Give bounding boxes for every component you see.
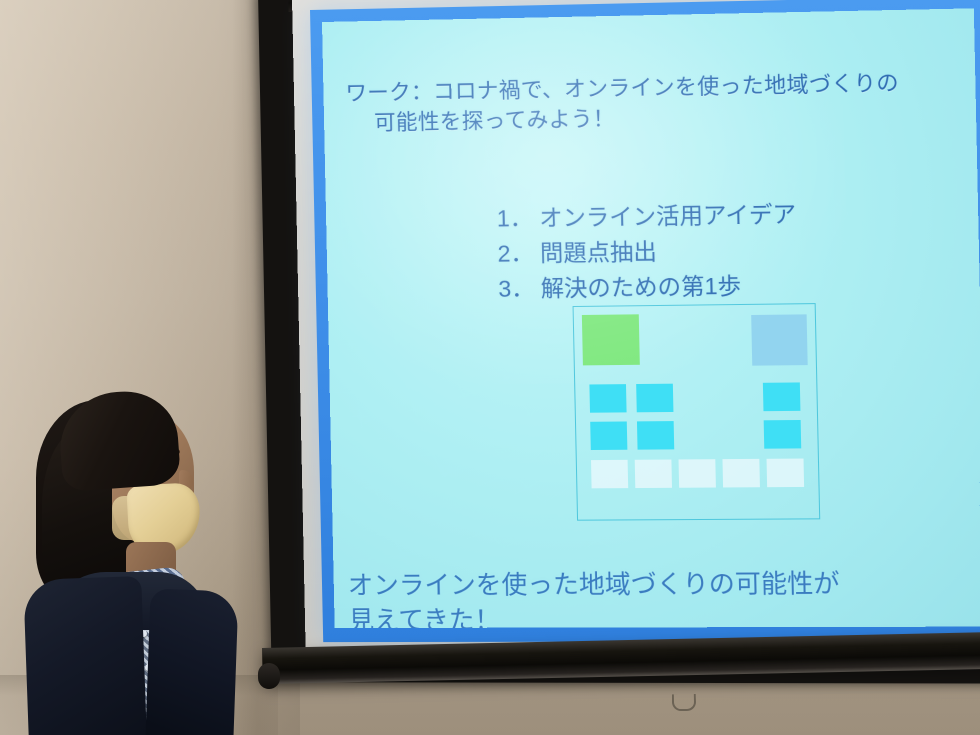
screen-pull-hook-icon bbox=[672, 694, 696, 711]
diagram-cell-cyan bbox=[763, 382, 801, 411]
diagram-cell-pale bbox=[635, 460, 672, 489]
slide-conclusion: オンラインを使った地域づくりの可能性が 見えてきた！ bbox=[347, 531, 980, 628]
slide-conclusion-line1: オンラインを使った地域づくりの可能性が bbox=[348, 570, 840, 600]
slide-conclusion-line2: 見えてきた！ bbox=[348, 603, 980, 629]
list-item-label: 問題点抽出 bbox=[540, 238, 657, 266]
diagram-cell-pale bbox=[722, 459, 759, 488]
diagram-cell-cyan bbox=[589, 384, 626, 413]
slide-title: ワーク：コロナ禍で、オンラインを使った地域づくりの 可能性を探ってみよう！ bbox=[345, 35, 959, 169]
projected-slide: ワーク：コロナ禍で、オンラインを使った地域づくりの 可能性を探ってみよう！ 1．… bbox=[322, 8, 980, 628]
list-item: 2．問題点抽出 bbox=[497, 230, 960, 272]
diagram-cell-cyan bbox=[590, 421, 627, 450]
presenter bbox=[8, 392, 260, 735]
photo-scene: ワーク：コロナ禍で、オンラインを使った地域づくりの 可能性を探ってみよう！ 1．… bbox=[0, 0, 980, 735]
diagram-cell-pale bbox=[591, 460, 628, 489]
diagram-cell-cyan bbox=[636, 384, 673, 413]
projection-screen-assembly: ワーク：コロナ禍で、オンラインを使った地域づくりの 可能性を探ってみよう！ 1．… bbox=[258, 0, 980, 702]
screen-bar-end-cap bbox=[258, 663, 281, 689]
slide-numbered-list: 1．オンライン活用アイデア 2．問題点抽出 3．解決のための第1歩 bbox=[348, 194, 962, 308]
slide-diagram bbox=[573, 303, 821, 521]
diagram-cell-pale bbox=[679, 459, 716, 488]
diagram-cell-cyan bbox=[764, 420, 802, 449]
diagram-cell-pale bbox=[767, 459, 805, 488]
list-item-number: 2． bbox=[497, 236, 540, 272]
slide-content: ワーク：コロナ禍で、オンラインを使った地域づくりの 可能性を探ってみよう！ 1．… bbox=[322, 8, 980, 628]
presenter-jacket-left bbox=[23, 576, 147, 735]
list-item-number: 3． bbox=[498, 271, 541, 307]
presenter-jacket-right bbox=[145, 589, 238, 735]
slide-title-line1: ワーク：コロナ禍で、オンラインを使った地域づくりの bbox=[345, 70, 899, 105]
list-item-label: 解決のための第1歩 bbox=[540, 273, 741, 302]
diagram-cell-green bbox=[582, 314, 640, 365]
presenter-hair-top bbox=[57, 388, 181, 492]
diagram-cell-cyan bbox=[637, 421, 674, 450]
list-item: 3．解決のための第1歩 bbox=[498, 266, 961, 307]
list-item-label: オンライン活用アイデア bbox=[539, 201, 796, 231]
list-item-number: 1． bbox=[496, 201, 539, 237]
diagram-cell-ltblue bbox=[751, 314, 808, 365]
